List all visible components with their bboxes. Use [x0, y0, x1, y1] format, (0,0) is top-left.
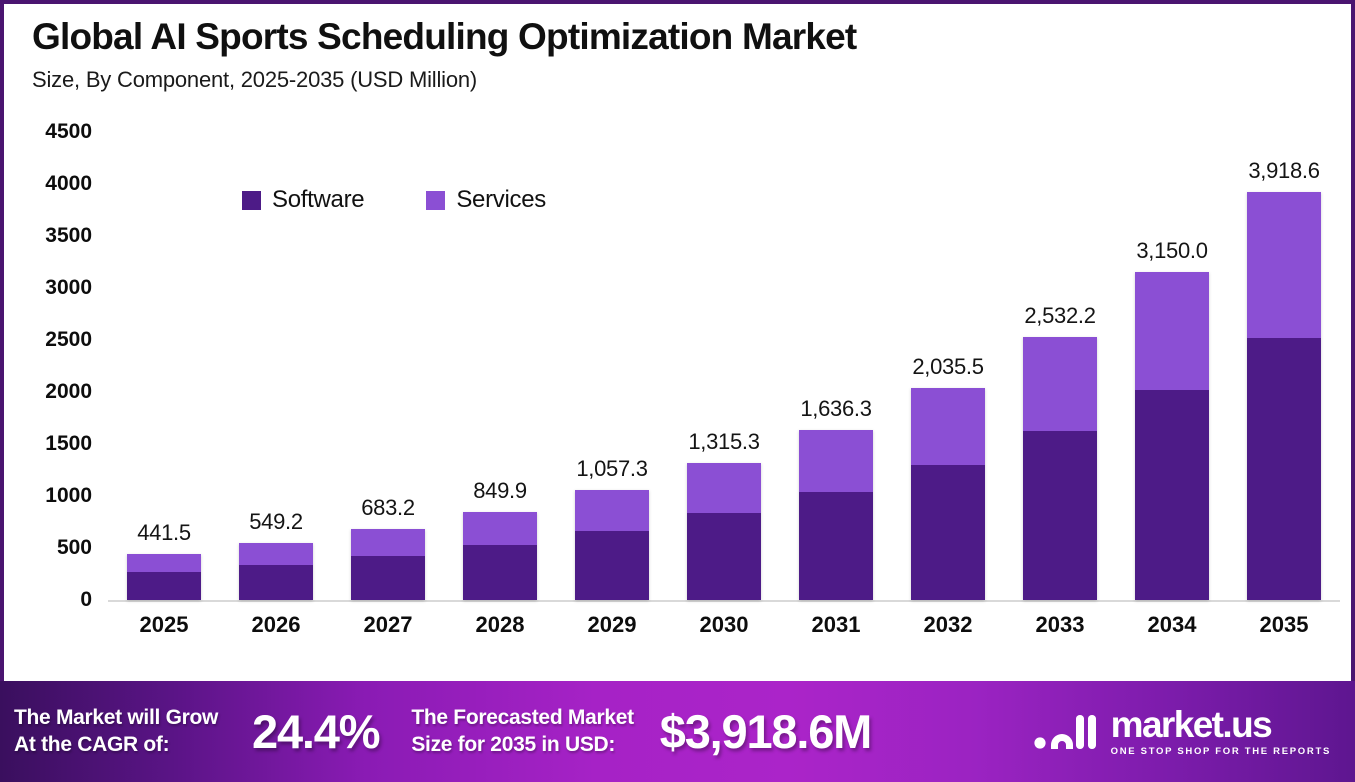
- square-swatch-icon: [426, 191, 445, 210]
- y-axis-tick-label: 4000: [45, 172, 92, 196]
- x-axis-baseline: [108, 600, 1340, 602]
- bar-column[interactable]: 2,532.2: [1004, 132, 1116, 600]
- forecast-size-label-line2: Size for 2035 in USD:: [411, 732, 633, 759]
- bar-segment-services[interactable]: [463, 512, 537, 545]
- market-us-logo[interactable]: market.us ONE STOP SHOP FOR THE REPORTS: [1034, 706, 1331, 757]
- y-axis-tick-label: 1000: [45, 484, 92, 508]
- plot-area: 050010001500200025003000350040004500 441…: [4, 132, 1355, 677]
- stacked-bar[interactable]: [463, 512, 537, 600]
- chart-subtitle: Size, By Component, 2025-2035 (USD Milli…: [32, 67, 1351, 93]
- bar-total-label: 1,315.3: [688, 429, 759, 455]
- y-axis-tick-label: 1500: [45, 432, 92, 456]
- bar-segment-services[interactable]: [1023, 337, 1097, 432]
- cagr-value: 24.4%: [252, 704, 379, 759]
- x-axis-tick-label: 2033: [1004, 612, 1116, 652]
- footer-banner: The Market will Grow At the CAGR of: 24.…: [0, 681, 1355, 782]
- bar-column[interactable]: 1,057.3: [556, 132, 668, 600]
- page-title: Global AI Sports Scheduling Optimization…: [32, 16, 1351, 57]
- bar-column[interactable]: 3,150.0: [1116, 132, 1228, 600]
- logo-tagline: ONE STOP SHOP FOR THE REPORTS: [1111, 746, 1331, 757]
- x-axis-tick-label: 2031: [780, 612, 892, 652]
- stacked-bar[interactable]: [1247, 192, 1321, 600]
- bar-total-label: 2,035.5: [912, 354, 983, 380]
- legend-label-services: Services: [456, 186, 546, 214]
- forecast-size-label: The Forecasted Market Size for 2035 in U…: [411, 705, 633, 759]
- bar-column[interactable]: 3,918.6: [1228, 132, 1340, 600]
- bar-segment-services[interactable]: [687, 463, 761, 513]
- cagr-label-line1: The Market will Grow: [14, 705, 218, 732]
- x-axis-tick-label: 2027: [332, 612, 444, 652]
- stacked-bar[interactable]: [911, 388, 985, 600]
- logo-text: market.us ONE STOP SHOP FOR THE REPORTS: [1111, 706, 1331, 757]
- y-axis: 050010001500200025003000350040004500: [4, 132, 100, 602]
- chart-header: Global AI Sports Scheduling Optimization…: [4, 4, 1351, 93]
- bar-total-label: 3,150.0: [1136, 238, 1207, 264]
- x-axis-tick-label: 2035: [1228, 612, 1340, 652]
- stacked-bar[interactable]: [1135, 272, 1209, 600]
- stacked-bar[interactable]: [687, 463, 761, 600]
- x-axis-tick-label: 2032: [892, 612, 1004, 652]
- stacked-bar[interactable]: [575, 490, 649, 600]
- bar-segment-services[interactable]: [1247, 192, 1321, 338]
- bar-column[interactable]: 441.5: [108, 132, 220, 600]
- bar-segment-services[interactable]: [127, 554, 201, 572]
- bar-segment-services[interactable]: [351, 529, 425, 556]
- stacked-bar[interactable]: [239, 543, 313, 600]
- legend-item-services[interactable]: Services: [426, 186, 546, 214]
- bar-segment-software[interactable]: [463, 545, 537, 600]
- chart-legend: Software Services: [242, 186, 546, 214]
- bar-segment-software[interactable]: [799, 492, 873, 600]
- bar-column[interactable]: 1,636.3: [780, 132, 892, 600]
- infographic-page: Global AI Sports Scheduling Optimization…: [0, 0, 1355, 782]
- y-axis-tick-label: 2000: [45, 380, 92, 404]
- bar-total-label: 683.2: [361, 495, 415, 521]
- bar-total-label: 849.9: [473, 478, 527, 504]
- bar-segment-services[interactable]: [239, 543, 313, 565]
- bar-total-label: 549.2: [249, 509, 303, 535]
- x-axis: 2025202620272028202920302031203220332034…: [108, 612, 1340, 652]
- bar-segment-software[interactable]: [1023, 431, 1097, 600]
- bar-segment-software[interactable]: [911, 465, 985, 600]
- y-axis-tick-label: 4500: [45, 120, 92, 144]
- x-axis-tick-label: 2026: [220, 612, 332, 652]
- bar-segment-software[interactable]: [239, 565, 313, 600]
- y-axis-tick-label: 3500: [45, 224, 92, 248]
- x-axis-tick-label: 2034: [1116, 612, 1228, 652]
- y-axis-tick-label: 3000: [45, 276, 92, 300]
- bar-segment-services[interactable]: [799, 430, 873, 492]
- bar-total-label: 1,636.3: [800, 396, 871, 422]
- x-axis-tick-label: 2028: [444, 612, 556, 652]
- square-swatch-icon: [242, 191, 261, 210]
- bar-total-label: 441.5: [137, 520, 191, 546]
- bar-segment-software[interactable]: [575, 531, 649, 600]
- y-axis-tick-label: 2500: [45, 328, 92, 352]
- x-axis-tick-label: 2025: [108, 612, 220, 652]
- bar-total-label: 3,918.6: [1248, 158, 1319, 184]
- logo-wordmark: market.us: [1111, 706, 1331, 743]
- bar-segment-services[interactable]: [575, 490, 649, 531]
- y-axis-tick-label: 0: [80, 588, 92, 612]
- y-axis-tick-label: 500: [57, 536, 92, 560]
- legend-label-software: Software: [272, 186, 364, 214]
- bar-segment-services[interactable]: [1135, 272, 1209, 389]
- stacked-bar[interactable]: [351, 529, 425, 600]
- bar-segment-software[interactable]: [127, 572, 201, 600]
- bar-total-label: 2,532.2: [1024, 303, 1095, 329]
- x-axis-tick-label: 2030: [668, 612, 780, 652]
- cagr-label: The Market will Grow At the CAGR of:: [14, 705, 218, 759]
- forecast-size-label-line1: The Forecasted Market: [411, 705, 633, 732]
- bar-column[interactable]: 2,035.5: [892, 132, 1004, 600]
- forecast-size-value: $3,918.6M: [660, 704, 871, 759]
- bar-segment-services[interactable]: [911, 388, 985, 465]
- bar-total-label: 1,057.3: [576, 456, 647, 482]
- bar-segment-software[interactable]: [687, 513, 761, 600]
- bar-column[interactable]: 1,315.3: [668, 132, 780, 600]
- stacked-bar[interactable]: [1023, 337, 1097, 600]
- stacked-bar[interactable]: [799, 430, 873, 600]
- stacked-bar[interactable]: [127, 554, 201, 600]
- legend-item-software[interactable]: Software: [242, 186, 364, 214]
- bar-segment-software[interactable]: [1247, 338, 1321, 600]
- bar-segment-software[interactable]: [1135, 390, 1209, 600]
- cagr-label-line2: At the CAGR of:: [14, 732, 218, 759]
- bar-chart-logo-icon: [1034, 707, 1100, 756]
- bar-segment-software[interactable]: [351, 556, 425, 600]
- x-axis-tick-label: 2029: [556, 612, 668, 652]
